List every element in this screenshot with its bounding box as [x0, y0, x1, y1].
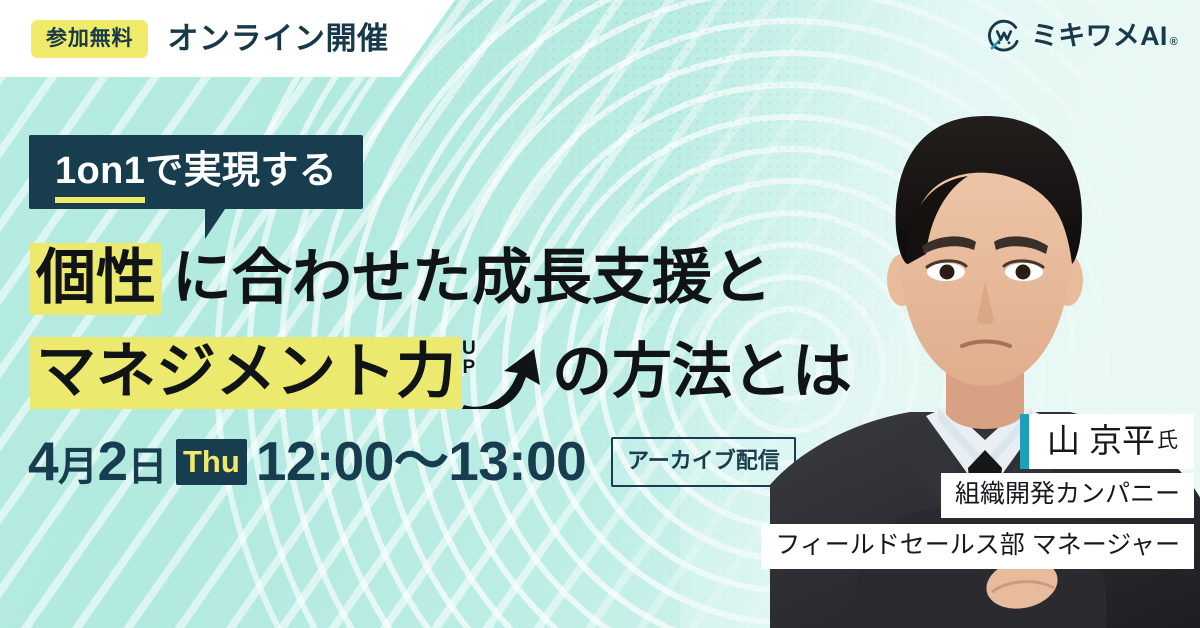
event-date: 4月2日	[28, 434, 167, 489]
headline: 個性 に合わせた成長支援と マネジメント力 U P の方法とは	[30, 243, 852, 409]
up-label: U P	[462, 339, 476, 378]
bubble-rest-text: で実現する	[145, 150, 337, 192]
event-time-start: 12:00	[256, 434, 394, 489]
mikiwame-circle-logo-icon	[986, 18, 1022, 54]
online-format-label: オンライン開催	[167, 23, 388, 54]
day-of-week-badge: Thu	[176, 439, 247, 485]
event-time: 12:00〜13:00	[256, 434, 586, 489]
headline-highlight-management: マネジメント力	[30, 337, 462, 409]
speaker-name: 山 京平	[1047, 424, 1155, 457]
archive-delivery-badge: アーカイブ配信	[611, 437, 796, 487]
event-time-separator: 〜	[394, 434, 448, 489]
webinar-banner: 参加無料 オンライン開催 ミキワメAI ® 1on1で実現する 個性 に合	[0, 0, 1200, 628]
registered-trademark-mark: ®	[1170, 37, 1178, 48]
top-ribbon: 参加無料 オンライン開催	[0, 0, 455, 77]
speech-bubble: 1on1で実現する	[29, 135, 363, 209]
free-admission-badge: 参加無料	[31, 20, 148, 58]
brand-name: ミキワメAI ®	[1031, 23, 1178, 50]
speech-bubble-text: 1on1で実現する	[55, 152, 337, 190]
event-day-number: 2	[98, 434, 128, 489]
up-label-bottom: P	[463, 358, 476, 377]
speech-bubble-tail	[205, 209, 225, 239]
event-day-unit: 日	[128, 447, 167, 487]
brand-logo: ミキワメAI ®	[986, 18, 1178, 54]
headline-line-2: マネジメント力 U P の方法とは	[30, 335, 852, 409]
speaker-name-plate: 山 京平 氏	[1020, 414, 1194, 469]
brand-name-text: ミキワメAI	[1031, 23, 1168, 50]
bubble-underlined-term: 1on1	[55, 150, 145, 203]
curved-up-arrow-icon: U P	[456, 335, 552, 409]
event-month-number: 4	[28, 434, 58, 489]
speaker-role-plate: フィールドセールス部 マネージャー	[761, 524, 1194, 569]
headline-highlight-kosei: 個性	[30, 243, 162, 315]
up-label-top: U	[462, 339, 476, 358]
headline-line-1-plain: に合わせた成長支援と	[172, 243, 772, 315]
schedule-line: 4月2日 Thu 12:00〜13:00 アーカイブ配信	[28, 434, 796, 489]
speaker-company-plate: 組織開発カンパニー	[941, 473, 1194, 518]
speaker-name-suffix: 氏	[1157, 430, 1178, 451]
headline-line-1: 個性 に合わせた成長支援と	[30, 243, 852, 315]
event-month-unit: 月	[58, 447, 97, 487]
event-time-end: 13:00	[448, 434, 586, 489]
